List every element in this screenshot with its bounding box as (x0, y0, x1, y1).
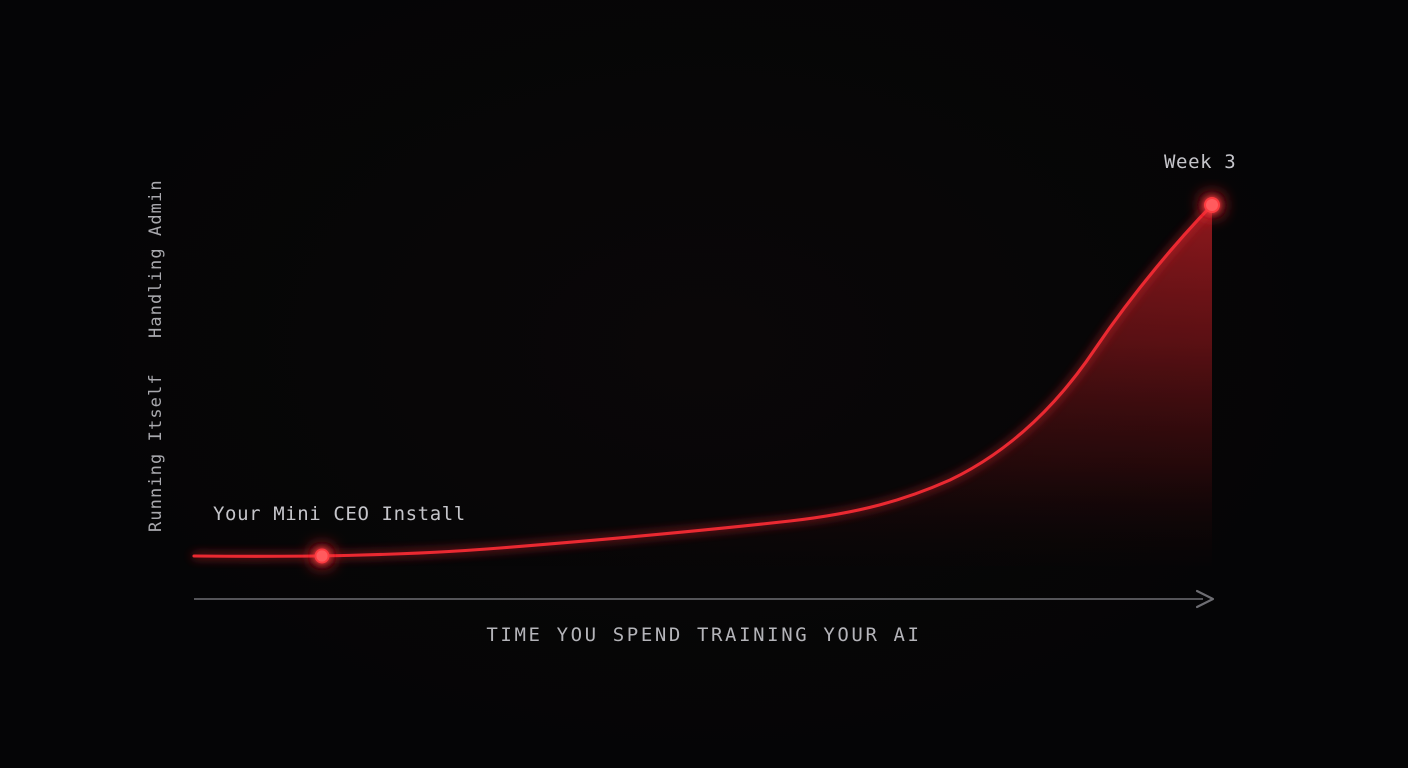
x-axis (194, 591, 1213, 607)
start-annotation-label: Your Mini CEO Install (213, 503, 466, 525)
x-axis-label: TIME YOU SPEND TRAINING YOUR AI (0, 624, 1408, 646)
y-axis-label-top: Handling Admin (146, 179, 166, 338)
growth-curve-svg (0, 0, 1408, 768)
end-annotation-label: Week 3 (1164, 151, 1236, 173)
end-marker[interactable] (1204, 197, 1220, 213)
chart-canvas: Handling Admin Running Itself TIME YOU S… (0, 0, 1408, 768)
start-marker[interactable] (315, 549, 330, 564)
y-axis-label-bottom: Running Itself (146, 373, 166, 532)
